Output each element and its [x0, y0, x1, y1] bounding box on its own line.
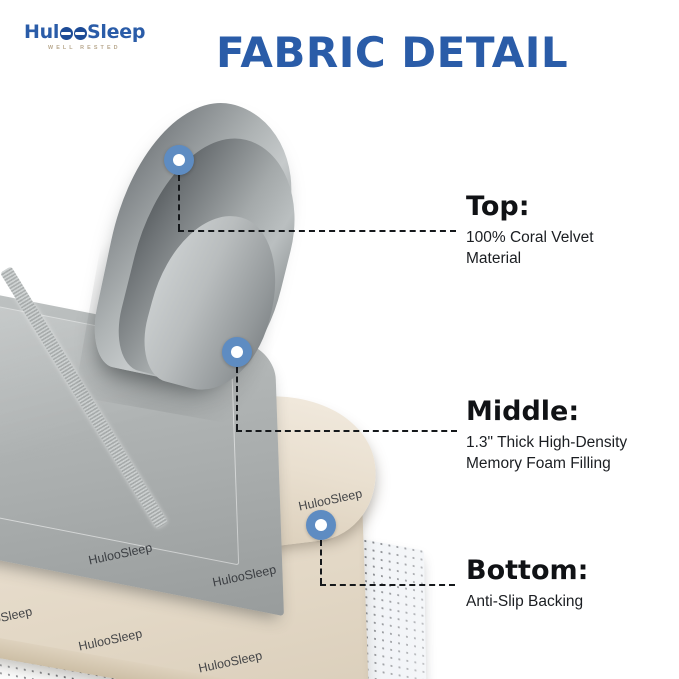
callout-bottom-heading: Bottom:	[466, 556, 588, 586]
sleeping-eye-icon-left	[60, 27, 73, 40]
callout-middle-heading: Middle:	[466, 397, 627, 427]
page-title: FABRIC DETAIL	[216, 28, 568, 77]
brand-name-prefix: Hul	[24, 21, 59, 43]
callout-marker-middle[interactable]	[222, 337, 252, 367]
callout-bottom-body: Anti-Slip Backing	[466, 591, 588, 612]
callout-top-body-line1: 100% Coral Velvet	[466, 227, 594, 248]
callout-top-body: 100% Coral Velvet Material	[466, 227, 594, 269]
callout-marker-top[interactable]	[164, 145, 194, 175]
brand-tagline: WELL RESTED	[24, 45, 164, 51]
callout-bottom-body-line1: Anti-Slip Backing	[466, 591, 588, 612]
callout-top: Top: 100% Coral Velvet Material	[466, 192, 594, 269]
brand-name-suffix: Sleep	[87, 21, 145, 43]
product-illustration: HulooSleep HulooSleep HulooSleep HulooSl…	[0, 95, 440, 679]
callout-middle-body-line2: Memory Foam Filling	[466, 453, 627, 474]
callout-top-heading: Top:	[466, 192, 594, 222]
callout-middle-body-line1: 1.3" Thick High-Density	[466, 432, 627, 453]
callout-marker-bottom[interactable]	[306, 510, 336, 540]
brand-logo: HulSleep WELL RESTED	[24, 22, 164, 56]
infographic-canvas: HulSleep WELL RESTED FABRIC DETAIL Huloo…	[0, 0, 679, 679]
callout-top-body-line2: Material	[466, 248, 594, 269]
sleeping-eye-icon-right	[74, 27, 87, 40]
callout-middle-body: 1.3" Thick High-Density Memory Foam Fill…	[466, 432, 627, 474]
brand-wordmark: HulSleep	[24, 22, 164, 42]
callout-bottom: Bottom: Anti-Slip Backing	[466, 556, 588, 612]
callout-middle: Middle: 1.3" Thick High-Density Memory F…	[466, 397, 627, 474]
